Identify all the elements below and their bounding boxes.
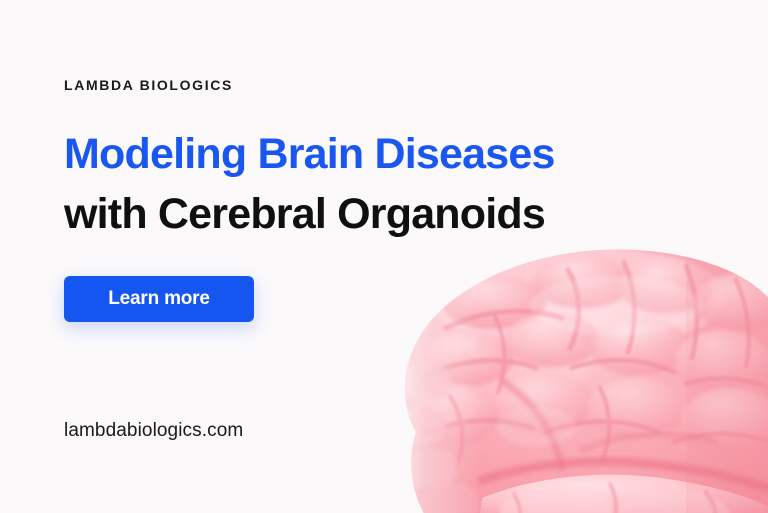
headline-line-primary: Modeling Brain Diseases xyxy=(64,124,624,184)
page-title: Modeling Brain Diseases with Cerebral Or… xyxy=(64,124,624,244)
promo-banner: LAMBDA BIOLOGICS Modeling Brain Diseases… xyxy=(0,0,768,513)
learn-more-button[interactable]: Learn more xyxy=(64,276,254,322)
headline-line-secondary: with Cerebral Organoids xyxy=(64,184,624,244)
website-url[interactable]: lambdabiologics.com xyxy=(64,420,243,442)
banner-content: LAMBDA BIOLOGICS Modeling Brain Diseases… xyxy=(64,0,624,513)
brand-eyebrow: LAMBDA BIOLOGICS xyxy=(64,77,233,93)
